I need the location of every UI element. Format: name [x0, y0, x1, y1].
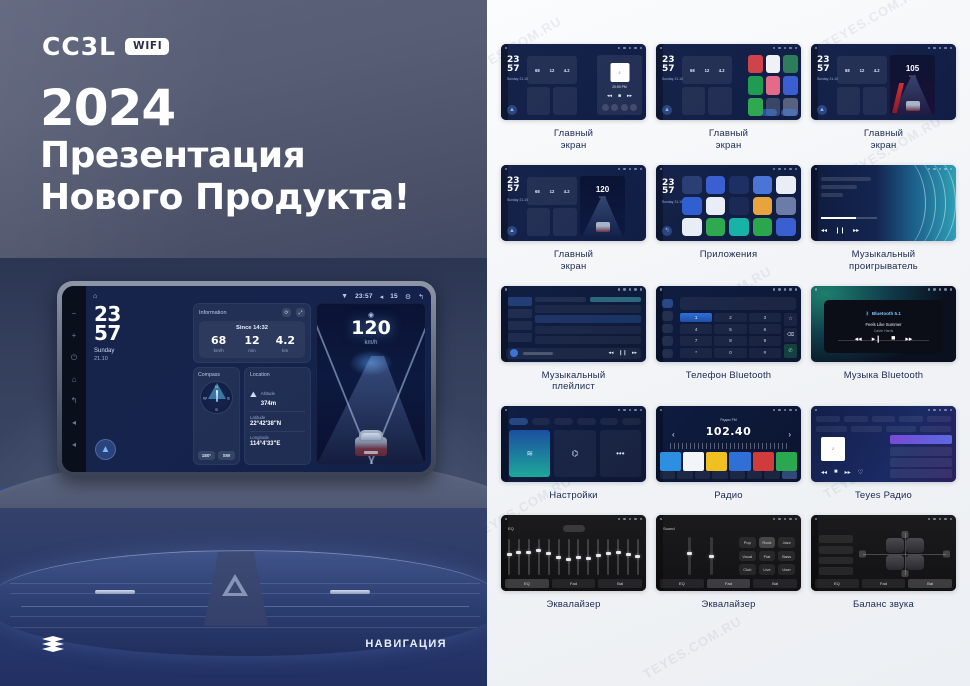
compass-heading: 180°	[198, 451, 215, 460]
head-unit-side-buttons[interactable]: − + ⏻ ⌂ ↰ ◂ ◂	[62, 286, 86, 472]
clock-widget[interactable]: 23 57 Sunday 21.10 ▲	[91, 303, 188, 465]
next-station-icon[interactable]: ›	[788, 430, 791, 439]
compass-east: E	[227, 395, 230, 400]
thumb-stat: 4.2	[559, 68, 574, 73]
altitude-value: 374m	[261, 401, 276, 407]
thumb-media-time: 20:50 PM	[612, 85, 627, 89]
clock-date: 21.10	[94, 356, 188, 363]
call-icon: ✆	[784, 344, 797, 358]
gallery-item[interactable]: ◂◂❙❙▸▸ Музыкальный плейлист	[501, 286, 646, 394]
radio-toolbar[interactable]	[660, 471, 797, 479]
information-title: Information	[199, 310, 227, 316]
car-3d-model	[353, 426, 389, 456]
radio-frequency: 102.40	[706, 425, 751, 438]
home-icon[interactable]: ⌂	[93, 293, 97, 300]
gallery-item[interactable]: 2357 Sunday 21.10 ▲ 68 12 4.2	[656, 44, 801, 152]
gallery-item[interactable]: 2357 Sunday 21.10 ▲ 68 12 4.2 ♪ 20:50 PM…	[501, 44, 646, 152]
gear-icon[interactable]: ⚙	[405, 293, 411, 301]
thumbnail-caption: Приложения	[700, 249, 758, 261]
gallery-item[interactable]: ♪ ◂◂■▸▸♡ Teyes Радио	[811, 406, 956, 502]
screen-thumbnail-radio[interactable]: Радио FM 102.40 ‹ ›	[656, 406, 801, 482]
thumbnail-caption: Главный экран	[554, 128, 593, 152]
frequency-scale[interactable]	[670, 443, 787, 449]
prev-station-icon[interactable]: ‹	[672, 430, 675, 439]
search-icon	[662, 324, 673, 334]
trip-since: Since 14:32	[202, 325, 302, 331]
screens-grid: 2357 Sunday 21.10 ▲ 68 12 4.2 ♪ 20:50 PM…	[501, 44, 956, 611]
settings-tabs[interactable]	[509, 418, 641, 425]
longitude-label: Longitude	[250, 435, 305, 440]
minus-button[interactable]: −	[70, 309, 79, 318]
playlist-sidebar[interactable]	[508, 297, 532, 345]
speed-value: 120	[351, 319, 391, 338]
phone-nav-rail[interactable]	[659, 297, 675, 359]
stat-value: 12	[235, 335, 268, 346]
gallery-item[interactable]: 2357 Sunday 21.10 ▲ 68 12 4.2 105 km/h	[811, 44, 956, 152]
dialer-side-actions[interactable]: ☆ ⌫ ✆	[784, 313, 797, 358]
location-title: Location	[250, 372, 305, 378]
power-button[interactable]: ⏻	[70, 353, 79, 362]
balance-stage[interactable]	[863, 533, 946, 575]
thumbnail-caption: Главный экран	[864, 128, 903, 152]
navigation-label: НАВИГАЦИЯ	[365, 638, 447, 650]
headline-line-2: Нового Продукта!	[40, 177, 410, 219]
hero-headline: 2024 Презентация Нового Продукта!	[40, 82, 410, 219]
eq-preset-grid[interactable]: PopRockJazz VocalFlatBass ClubLiveUser	[739, 537, 795, 575]
wifi-setting-card: ≋	[509, 430, 550, 477]
wifi-icon[interactable]: ▼	[341, 293, 348, 300]
number-display	[680, 297, 796, 310]
thumb-apps-widget	[748, 55, 798, 116]
screen-thumbnail-bt-music[interactable]: ᛒBluetooth 5.1 Feels Like Summer Calvin …	[811, 286, 956, 362]
stat-unit: km/h	[202, 348, 235, 353]
compass-dial: N E S W	[200, 381, 233, 414]
thumb-clock-sub: Sunday 21.10	[507, 77, 528, 81]
clock-weekday: Sunday	[94, 348, 188, 356]
radio-presets[interactable]	[660, 452, 797, 471]
altitude-label: Altitude	[261, 391, 275, 396]
head-unit-bezel: − + ⏻ ⌂ ↰ ◂ ◂ ⌂ ▼	[57, 281, 436, 477]
stat-distance: 4.2 km	[269, 335, 302, 353]
thumb-media-widget: ♪ 20:50 PM ◂◂■▸▸	[597, 55, 642, 115]
waveform-graphic	[898, 165, 956, 241]
hotspot-setting-card: ⌬	[554, 430, 595, 477]
drive-view-card[interactable]: ◉ 120 km/h	[316, 303, 426, 465]
eq-band-sliders[interactable]	[508, 539, 639, 575]
plus-button[interactable]: +	[70, 331, 79, 340]
radio-band-label: Радио FM	[720, 418, 737, 422]
gallery-item[interactable]: Радио FM 102.40 ‹ › Радио	[656, 406, 801, 502]
gallery-item[interactable]: Sound PopRockJazz VocalFlatBass ClubLive…	[656, 515, 801, 611]
balance-down-icon	[901, 570, 908, 577]
compass-needle	[216, 390, 218, 402]
compass-card[interactable]: Compass N E S W	[193, 367, 240, 465]
head-unit-content: 23 57 Sunday 21.10 ▲ Informati	[91, 303, 426, 465]
vent-chrome-left	[95, 590, 135, 594]
thumb-drive-widget: 120 km/h	[580, 176, 625, 236]
location-card[interactable]: Location ⛰ Altitude 374m	[244, 367, 311, 465]
presentation-slide: TEYES.COM.RU TEYES.COM.RU TEYES.COM.RU C…	[0, 0, 970, 686]
bluetooth-title: ᛒBluetooth 5.1	[866, 311, 901, 316]
stat-duration: 12 min	[235, 335, 268, 353]
back-button[interactable]: ↰	[70, 396, 79, 405]
volume-up-button[interactable]: ◂	[70, 440, 79, 449]
gallery-item[interactable]: EQ	[501, 515, 646, 611]
thumb-stat: 68	[530, 68, 545, 73]
dialpad-icon	[662, 299, 673, 309]
player-controls[interactable]: ◂◂❙❙▸▸	[821, 227, 859, 234]
compass-west: W	[203, 395, 207, 400]
stat-value: 68	[202, 335, 235, 346]
widgets-column: Information ⟳ ⤢ Since 14:32	[193, 303, 311, 465]
call-log-icon	[662, 336, 673, 346]
gallery-item[interactable]: ◂◂❙❙▸▸ Музыкальный проигрыватель	[811, 165, 956, 273]
more-setting-card: •••	[600, 430, 641, 477]
player-track-list	[821, 177, 877, 201]
stat-avg-speed: 68 km/h	[202, 335, 235, 353]
screen-thumbnail-player[interactable]: ◂◂❙❙▸▸	[811, 165, 956, 241]
screen-thumbnail-home-drive2[interactable]: 2357 Sunday 21.10 ▲ 68 12 4.2 120 km/h	[501, 165, 646, 241]
volume-icon[interactable]: ◂	[380, 293, 384, 301]
gallery-item[interactable]: ᛒBluetooth 5.1 Feels Like Summer Calvin …	[811, 286, 956, 394]
screen-thumbnail-balance[interactable]: EQFadBal	[811, 515, 956, 591]
mountain-icon: ⛰	[250, 390, 257, 400]
eq-preset-pill[interactable]	[563, 525, 585, 532]
clock-minutes: 57	[94, 324, 188, 343]
volume-level: 15	[390, 293, 398, 300]
thumbnail-caption: Главный экран	[709, 128, 748, 152]
product-logo: CC3L WIFI	[42, 32, 169, 61]
thumbnail-caption: Музыка Bluetooth	[844, 370, 924, 382]
eq-tabs[interactable]: EQFadBal	[815, 579, 952, 588]
eq-preset-label: EQ	[508, 526, 514, 531]
thumbnail-caption: Баланс звука	[853, 599, 914, 611]
stat-unit: min	[235, 348, 268, 353]
thumb-stat: 12	[545, 68, 560, 73]
information-card[interactable]: Information ⟳ ⤢ Since 14:32	[193, 303, 311, 363]
screen-thumbnail-home-apps[interactable]: 2357 Sunday 21.10 ▲ 68 12 4.2	[656, 44, 801, 120]
screen-thumbnail-home-drive[interactable]: 2357 Sunday 21.10 ▲ 68 12 4.2 105 km/h	[811, 44, 956, 120]
latitude-label: Latitude	[250, 415, 305, 420]
teyes-station-list[interactable]	[890, 435, 952, 478]
gallery-item[interactable]: 2357 Sunday 21.10 ▲ 68 12 4.2 120 km/h	[501, 165, 646, 273]
bt-track-title: Feels Like Summer	[865, 322, 901, 327]
wifi-badge: WIFI	[125, 38, 169, 55]
drive-column: ◉ 120 km/h	[316, 303, 426, 465]
bluetooth-card: ᛒBluetooth 5.1 Feels Like Summer Calvin …	[824, 300, 943, 353]
thumbnail-caption: Эквалайзер	[701, 599, 755, 611]
album-art-icon: ♪	[610, 63, 629, 82]
refresh-icon[interactable]: ⟳	[282, 308, 291, 317]
vent-chrome-right	[330, 590, 370, 594]
longitude-value: 114°4'33"E	[250, 441, 305, 447]
screens-gallery-panel: TEYES.COM.RU TEYES.COM.RU TEYES.COM.RU T…	[487, 0, 970, 686]
left-footer	[0, 620, 487, 686]
compass-title: Compass	[198, 372, 235, 378]
playlist-table[interactable]	[535, 297, 641, 346]
favorite-icon: ☆	[784, 313, 797, 327]
thumbnail-caption: Настройки	[549, 490, 597, 502]
thumbnail-caption: Эквалайзер	[546, 599, 600, 611]
app-drawer-grid	[682, 176, 796, 236]
headline-line-1: Презентация	[40, 135, 410, 177]
thumb-clock: 2357	[507, 56, 520, 73]
layers-icon	[42, 636, 64, 654]
thumbnail-caption: Teyes Радио	[855, 490, 912, 502]
teyes-controls[interactable]: ◂◂■▸▸♡	[821, 469, 863, 476]
status-time: 23:57	[355, 293, 373, 300]
gallery-item[interactable]: 2357 Sunday 21.10 ↰ Приложения	[656, 165, 801, 273]
settings-cards[interactable]: ≋ ⌬ •••	[509, 430, 641, 477]
thumbnail-caption: Радио	[714, 490, 742, 502]
thumb-speed: 120	[596, 185, 609, 194]
seek-bar[interactable]	[821, 217, 877, 219]
thumbnail-caption: Музыкальный проигрыватель	[849, 249, 918, 273]
album-art-icon: ♪	[821, 437, 845, 461]
thumbnail-caption: Телефон Bluetooth	[686, 370, 772, 382]
screen-thumbnail-home-media[interactable]: 2357 Sunday 21.10 ▲ 68 12 4.2 ♪ 20:50 PM…	[501, 44, 646, 120]
bt-artist: Calvin Harris	[874, 329, 893, 333]
stat-value: 4.2	[269, 335, 302, 346]
status-bar: ⌂ ▼ 23:57 ◂ 15 ⚙ ↰	[91, 290, 426, 303]
compass-south: S	[215, 407, 218, 412]
head-unit-screen: − + ⏻ ⌂ ↰ ◂ ◂ ⌂ ▼	[62, 286, 431, 472]
dial-pad[interactable]: 123 456 789 *0#	[680, 313, 781, 358]
screen-thumbnail-apps[interactable]: 2357 Sunday 21.10 ↰	[656, 165, 801, 241]
left-hero-panel: TEYES.COM.RU TEYES.COM.RU TEYES.COM.RU C…	[0, 0, 487, 686]
thumb-nav-fab: ▲	[507, 105, 517, 115]
eq-tabs[interactable]: EQFadBal	[660, 579, 797, 588]
gallery-item[interactable]: EQFadBal Баланс звука	[811, 515, 956, 611]
back-arrow-icon[interactable]: ↰	[418, 293, 424, 301]
trip-stats: 68 km/h 12 min 4.2	[202, 335, 302, 353]
teyes-top-tabs[interactable]	[816, 416, 951, 422]
thumb-speed: 105	[906, 64, 919, 73]
clock-column: 23 57 Sunday 21.10 ▲	[91, 303, 188, 465]
model-name: CC3L	[42, 32, 116, 61]
screen-thumbnail-teyes-radio[interactable]: ♪ ◂◂■▸▸♡	[811, 406, 956, 482]
gallery-item[interactable]: ≋ ⌬ ••• Настройки	[501, 406, 646, 502]
thumbnail-caption: Главный экран	[554, 249, 593, 273]
balance-left-icon	[859, 551, 866, 558]
screen-thumbnail-bt-phone[interactable]: 123 456 789 *0# ☆ ⌫ ✆	[656, 286, 801, 362]
teyes-sub-tabs[interactable]	[816, 426, 951, 432]
cabin-seats-graphic	[886, 538, 924, 570]
screen-thumbnail-equalizer-2[interactable]: Sound PopRockJazz VocalFlatBass ClubLive…	[656, 515, 801, 591]
hazard-triangle-icon[interactable]	[222, 574, 248, 596]
navigation-fab[interactable]: ▲	[95, 439, 116, 460]
balance-right-icon	[943, 551, 950, 558]
latitude-value: 22°42'38"N	[250, 421, 305, 427]
balance-up-icon	[901, 531, 908, 538]
thumb-drive-widget: 105 km/h	[890, 55, 935, 115]
home-button[interactable]: ⌂	[70, 375, 79, 384]
mini-player-bar[interactable]: ◂◂❙❙▸▸	[506, 348, 641, 359]
head-unit-ui: ⌂ ▼ 23:57 ◂ 15 ⚙ ↰	[86, 286, 431, 472]
gallery-item[interactable]: 123 456 789 *0# ☆ ⌫ ✆ Телефон Bluetooth	[656, 286, 801, 394]
volume-down-button[interactable]: ◂	[70, 418, 79, 427]
speed-unit: km/h	[364, 340, 377, 346]
expand-icon[interactable]: ⤢	[296, 308, 305, 317]
screen-thumbnail-equalizer-1[interactable]: EQ	[501, 515, 646, 591]
thumb-back-icon: ↰	[662, 226, 672, 236]
screen-thumbnail-settings[interactable]: ≋ ⌬ •••	[501, 406, 646, 482]
stat-unit: km	[269, 348, 302, 353]
compass-north: N	[215, 384, 218, 389]
eq-level-sliders[interactable]	[678, 537, 722, 575]
eq-tabs[interactable]: EQFadBal	[505, 579, 642, 588]
screen-thumbnail-playlist[interactable]: ◂◂❙❙▸▸	[501, 286, 646, 362]
eq-preset-label: Sound	[663, 526, 675, 531]
bluetooth-icon: ᛒ	[866, 311, 869, 316]
settings-icon	[662, 349, 673, 359]
watermark: TEYES.COM.RU	[641, 613, 745, 681]
headline-year: 2024	[40, 82, 410, 135]
bt-controls[interactable]: ◂◂▸❙■▸▸	[855, 335, 913, 343]
balance-preset-list[interactable]	[819, 535, 853, 575]
backspace-icon: ⌫	[784, 328, 797, 342]
contacts-icon	[662, 311, 673, 321]
compass-direction: SW	[218, 451, 235, 460]
thumbnail-caption: Музыкальный плейлист	[542, 370, 606, 394]
